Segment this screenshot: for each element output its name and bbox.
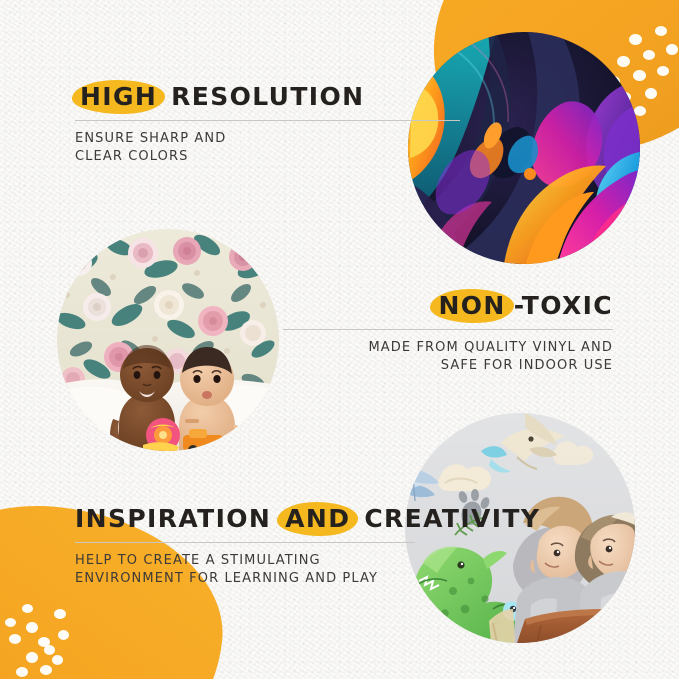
infographic-canvas: HIGHRESOLUTION ENSURE SHARP AND CLEAR CO… [0,0,679,679]
feature-1-headline: HIGHRESOLUTION [75,83,364,111]
feature-2-divider-line [283,329,613,330]
feature-2-body-line-1: MADE FROM QUALITY VINYL AND [283,339,613,357]
feature-1-highlight-word: HIGH [75,83,162,111]
feature-3-highlight-word: AND [280,505,355,533]
feature-3-headline: INSPIRATIONANDCREATIVITY [75,505,540,533]
feature-3-body-line-2: ENVIRONMENT FOR LEARNING AND PLAY [75,570,415,588]
feature-1-body-line-2: CLEAR COLORS [75,148,460,166]
cloud-decal [438,464,491,491]
feature-2-headline: NON-TOXIC [433,292,613,320]
feature-non-toxic: NON-TOXIC MADE FROM QUALITY VINYL AND SA… [283,292,613,376]
feature-1-body: ENSURE SHARP AND CLEAR COLORS [75,130,460,167]
feature-high-resolution: HIGHRESOLUTION ENSURE SHARP AND CLEAR CO… [75,83,460,167]
feature-inspiration-creativity: INSPIRATIONANDCREATIVITY HELP TO CREATE … [75,505,415,589]
feature-2-body-line-2: SAFE FOR INDOOR USE [283,357,613,375]
feature-2-highlight-word: NON [433,292,510,320]
feature-2-headline-rest: -TOXIC [514,291,613,320]
feature-1-divider-line [75,120,460,121]
photo-babies-floral-wallpaper [57,229,279,451]
feature-3-divider-line [75,542,415,543]
feature-3-body-line-1: HELP TO CREATE A STIMULATING [75,552,415,570]
feature-3-headline-rest: CREATIVITY [364,504,540,533]
feature-3-headline-pre: INSPIRATION [75,504,271,533]
feature-1-body-line-1: ENSURE SHARP AND [75,130,460,148]
feature-1-headline-rest: RESOLUTION [171,82,364,111]
feature-3-body: HELP TO CREATE A STIMULATING ENVIRONMENT… [75,552,415,589]
feature-2-body: MADE FROM QUALITY VINYL AND SAFE FOR IND… [283,339,613,376]
